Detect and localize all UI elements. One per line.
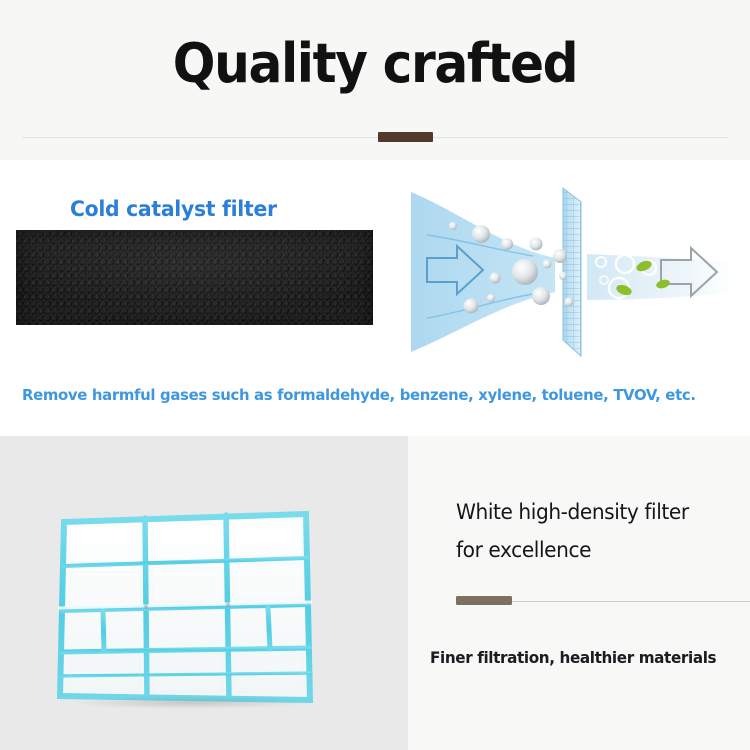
heading-line-2: for excellence [456, 531, 731, 569]
product-shadow [72, 696, 307, 709]
page-title: Quality crafted [26, 32, 724, 96]
cold-catalyst-title: Cold catalyst filter [70, 197, 277, 221]
air-filtration-diagram [405, 180, 743, 362]
product-image-panel [0, 436, 408, 750]
page-header: Quality crafted [0, 0, 750, 160]
filter-mesh-panel [563, 188, 581, 356]
cold-catalyst-section: Cold catalyst filter [0, 160, 750, 372]
heading-line-1: White high-density filter [456, 493, 731, 531]
high-density-filter-subtext: Finer filtration, healthier materials [430, 648, 734, 667]
high-density-filter-section: White high-density filter for excellence… [0, 436, 750, 750]
honeycomb-carbon-filter-image [16, 230, 373, 325]
white-high-density-grid-filter-image [50, 504, 320, 709]
high-density-filter-copy-panel: White high-density filter for excellence… [408, 436, 750, 750]
caption-strip: Remove harmful gases such as formaldehyd… [0, 372, 750, 436]
high-density-filter-heading: White high-density filter for excellence [456, 493, 731, 569]
heading-accent-bar [456, 596, 512, 605]
harmful-gases-caption: Remove harmful gases such as formaldehyd… [22, 386, 704, 404]
header-accent-bar [378, 132, 433, 142]
header-divider [22, 137, 728, 138]
